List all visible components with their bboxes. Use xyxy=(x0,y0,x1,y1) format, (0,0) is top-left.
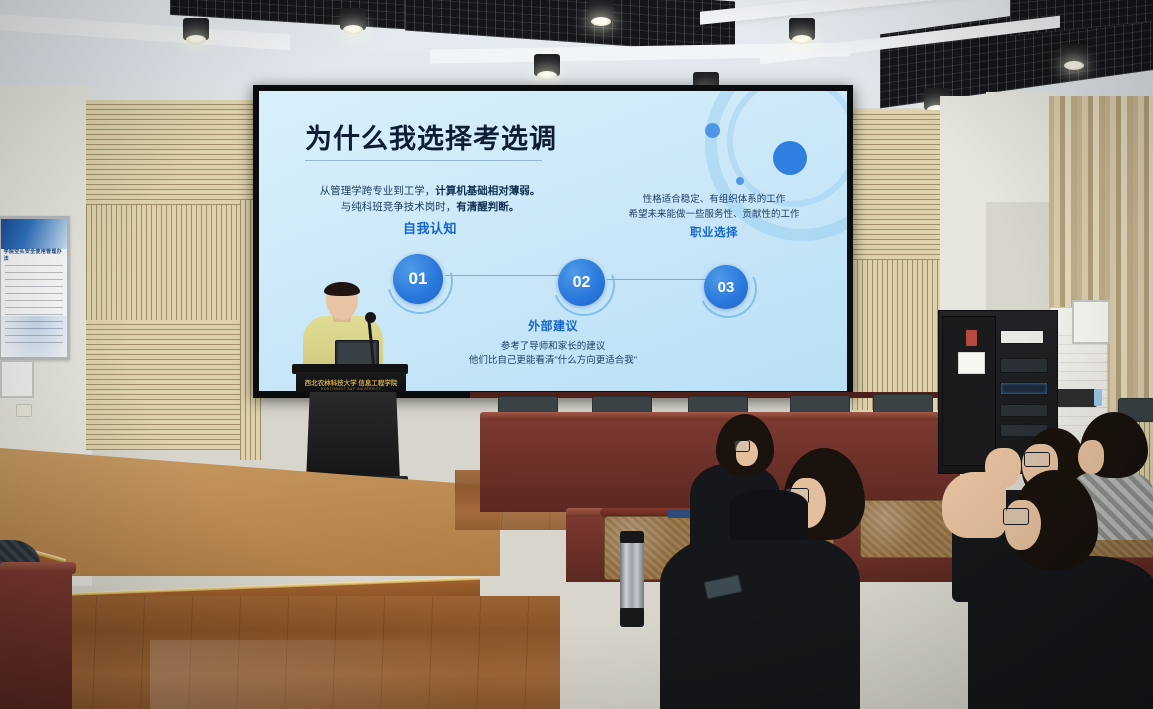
av-rack-id-card xyxy=(966,330,977,346)
ac-display xyxy=(1094,389,1102,406)
slide-block-external-advice: 外部建议 参考了导师和家长的建议 他们比自己更能看清"什么方向更适合我" xyxy=(403,317,703,369)
audience-person-c-arm xyxy=(942,472,1006,538)
self-awareness-line-2b: 有清醒判断。 xyxy=(456,201,519,213)
ceiling-spotlight-1 xyxy=(183,18,209,40)
career-choice-line-2: 希望未来能做一些服务性、贡献性的工作 xyxy=(589,208,839,223)
slide-block-career-choice: 性格适合稳定、有组织体系的工作 希望未来能做一些服务性、贡献性的工作 职业选择 xyxy=(589,193,839,243)
desk-thermos-cap xyxy=(620,531,644,543)
audience-person-d-face xyxy=(1078,440,1104,474)
audience-person-e-glasses xyxy=(1003,508,1029,525)
podium-nameplate-sub: NORTHWEST A&F UNIVERSITY xyxy=(302,385,400,393)
audience-person-e-torso xyxy=(968,556,1153,709)
stage-platform-top xyxy=(0,448,500,576)
audience-desk-row-3-edge xyxy=(480,412,960,420)
ceiling-spotlight-8 xyxy=(1061,44,1087,66)
ceiling-spotlight-2 xyxy=(340,8,366,30)
wall-light-switch xyxy=(16,404,32,417)
self-awareness-line-2a: 与纯科班竞争技术岗时， xyxy=(341,201,457,213)
slide-block-self-awareness: 从管理学跨专业到工学，计算机基础相对薄弱。 与纯科班竞争技术岗时，有清醒判断。 … xyxy=(285,183,575,239)
podium-body xyxy=(306,392,400,482)
timeline-node-2: 02 xyxy=(558,259,605,306)
podium-university-name-en: NORTHWEST A&F UNIVERSITY xyxy=(321,387,381,391)
career-choice-line-1: 性格适合稳定、有组织体系的工作 xyxy=(589,193,839,208)
microphone-head xyxy=(365,312,376,323)
speaker-hair-fringe xyxy=(324,282,360,296)
notice-board-decoration xyxy=(0,316,70,360)
av-rack-notice-paper xyxy=(958,352,985,374)
wall-panel-right-notice xyxy=(1072,300,1110,344)
slide-title: 为什么我选择考选调 xyxy=(305,117,557,156)
av-rack-unit-4 xyxy=(1000,404,1048,417)
timeline-node-1: 01 xyxy=(393,254,443,304)
lecture-hall-scene: 学院空头安全使用管理办法 为什么我选择考选调 从管理学跨专业到工学，计算机基础相… xyxy=(0,0,1153,709)
desk-thermos-base xyxy=(620,608,644,627)
notice-board-title: 学院空头安全使用管理办法 xyxy=(4,248,65,262)
self-awareness-caption: 自我认知 xyxy=(285,219,575,239)
wall-right-plaster xyxy=(940,96,986,326)
wall-wood-panel-right-upper xyxy=(852,110,942,260)
external-advice-caption: 外部建议 xyxy=(403,317,703,336)
audience-person-a-glasses xyxy=(734,440,750,452)
wall-notice-board: 学院空头安全使用管理办法 xyxy=(0,216,70,360)
av-rack-unit-3 xyxy=(1000,382,1048,395)
audience-person-c-glasses xyxy=(1024,452,1050,467)
ceiling-spotlight-3 xyxy=(534,54,560,76)
slide-decoration-dot-small xyxy=(736,177,744,185)
ceiling-spotlight-4 xyxy=(588,0,614,22)
wall-wood-panel-left-upper xyxy=(86,100,258,205)
slide-decoration-dot-large xyxy=(773,141,807,175)
notice-board-header xyxy=(1,219,67,249)
self-awareness-line-1a: 从管理学跨专业到工学， xyxy=(320,185,436,197)
timeline-node-3: 03 xyxy=(704,265,748,309)
av-rack-unit-2 xyxy=(1000,358,1048,373)
career-choice-caption: 职业选择 xyxy=(589,225,839,243)
wall-panel-left-small xyxy=(0,360,34,398)
wall-right-upper-plaster xyxy=(986,92,1056,202)
self-awareness-line-1: 从管理学跨专业到工学，计算机基础相对薄弱。 xyxy=(285,183,575,199)
ac-vent xyxy=(1057,389,1097,408)
external-advice-line-2: 他们比自己更能看清"什么方向更适合我" xyxy=(403,354,703,369)
ceiling-spotlight-6 xyxy=(789,18,815,40)
audience-desk-left xyxy=(0,572,72,709)
slide-decoration-dot-medium xyxy=(705,123,720,138)
external-advice-line-1: 参考了导师和家长的建议 xyxy=(403,340,703,355)
av-rack-unit-1 xyxy=(1000,330,1044,344)
audience-person-f-torso xyxy=(730,490,808,540)
wall-wood-panel-left-lower xyxy=(86,320,258,450)
floor-reflection xyxy=(150,640,480,709)
self-awareness-line-2: 与纯科班竞争技术岗时，有清醒判断。 xyxy=(285,199,575,215)
self-awareness-line-1b: 计算机基础相对薄弱。 xyxy=(435,185,540,197)
wall-wood-panel-left-mid xyxy=(86,205,246,320)
wall-wood-panel-right-mid xyxy=(852,260,942,410)
